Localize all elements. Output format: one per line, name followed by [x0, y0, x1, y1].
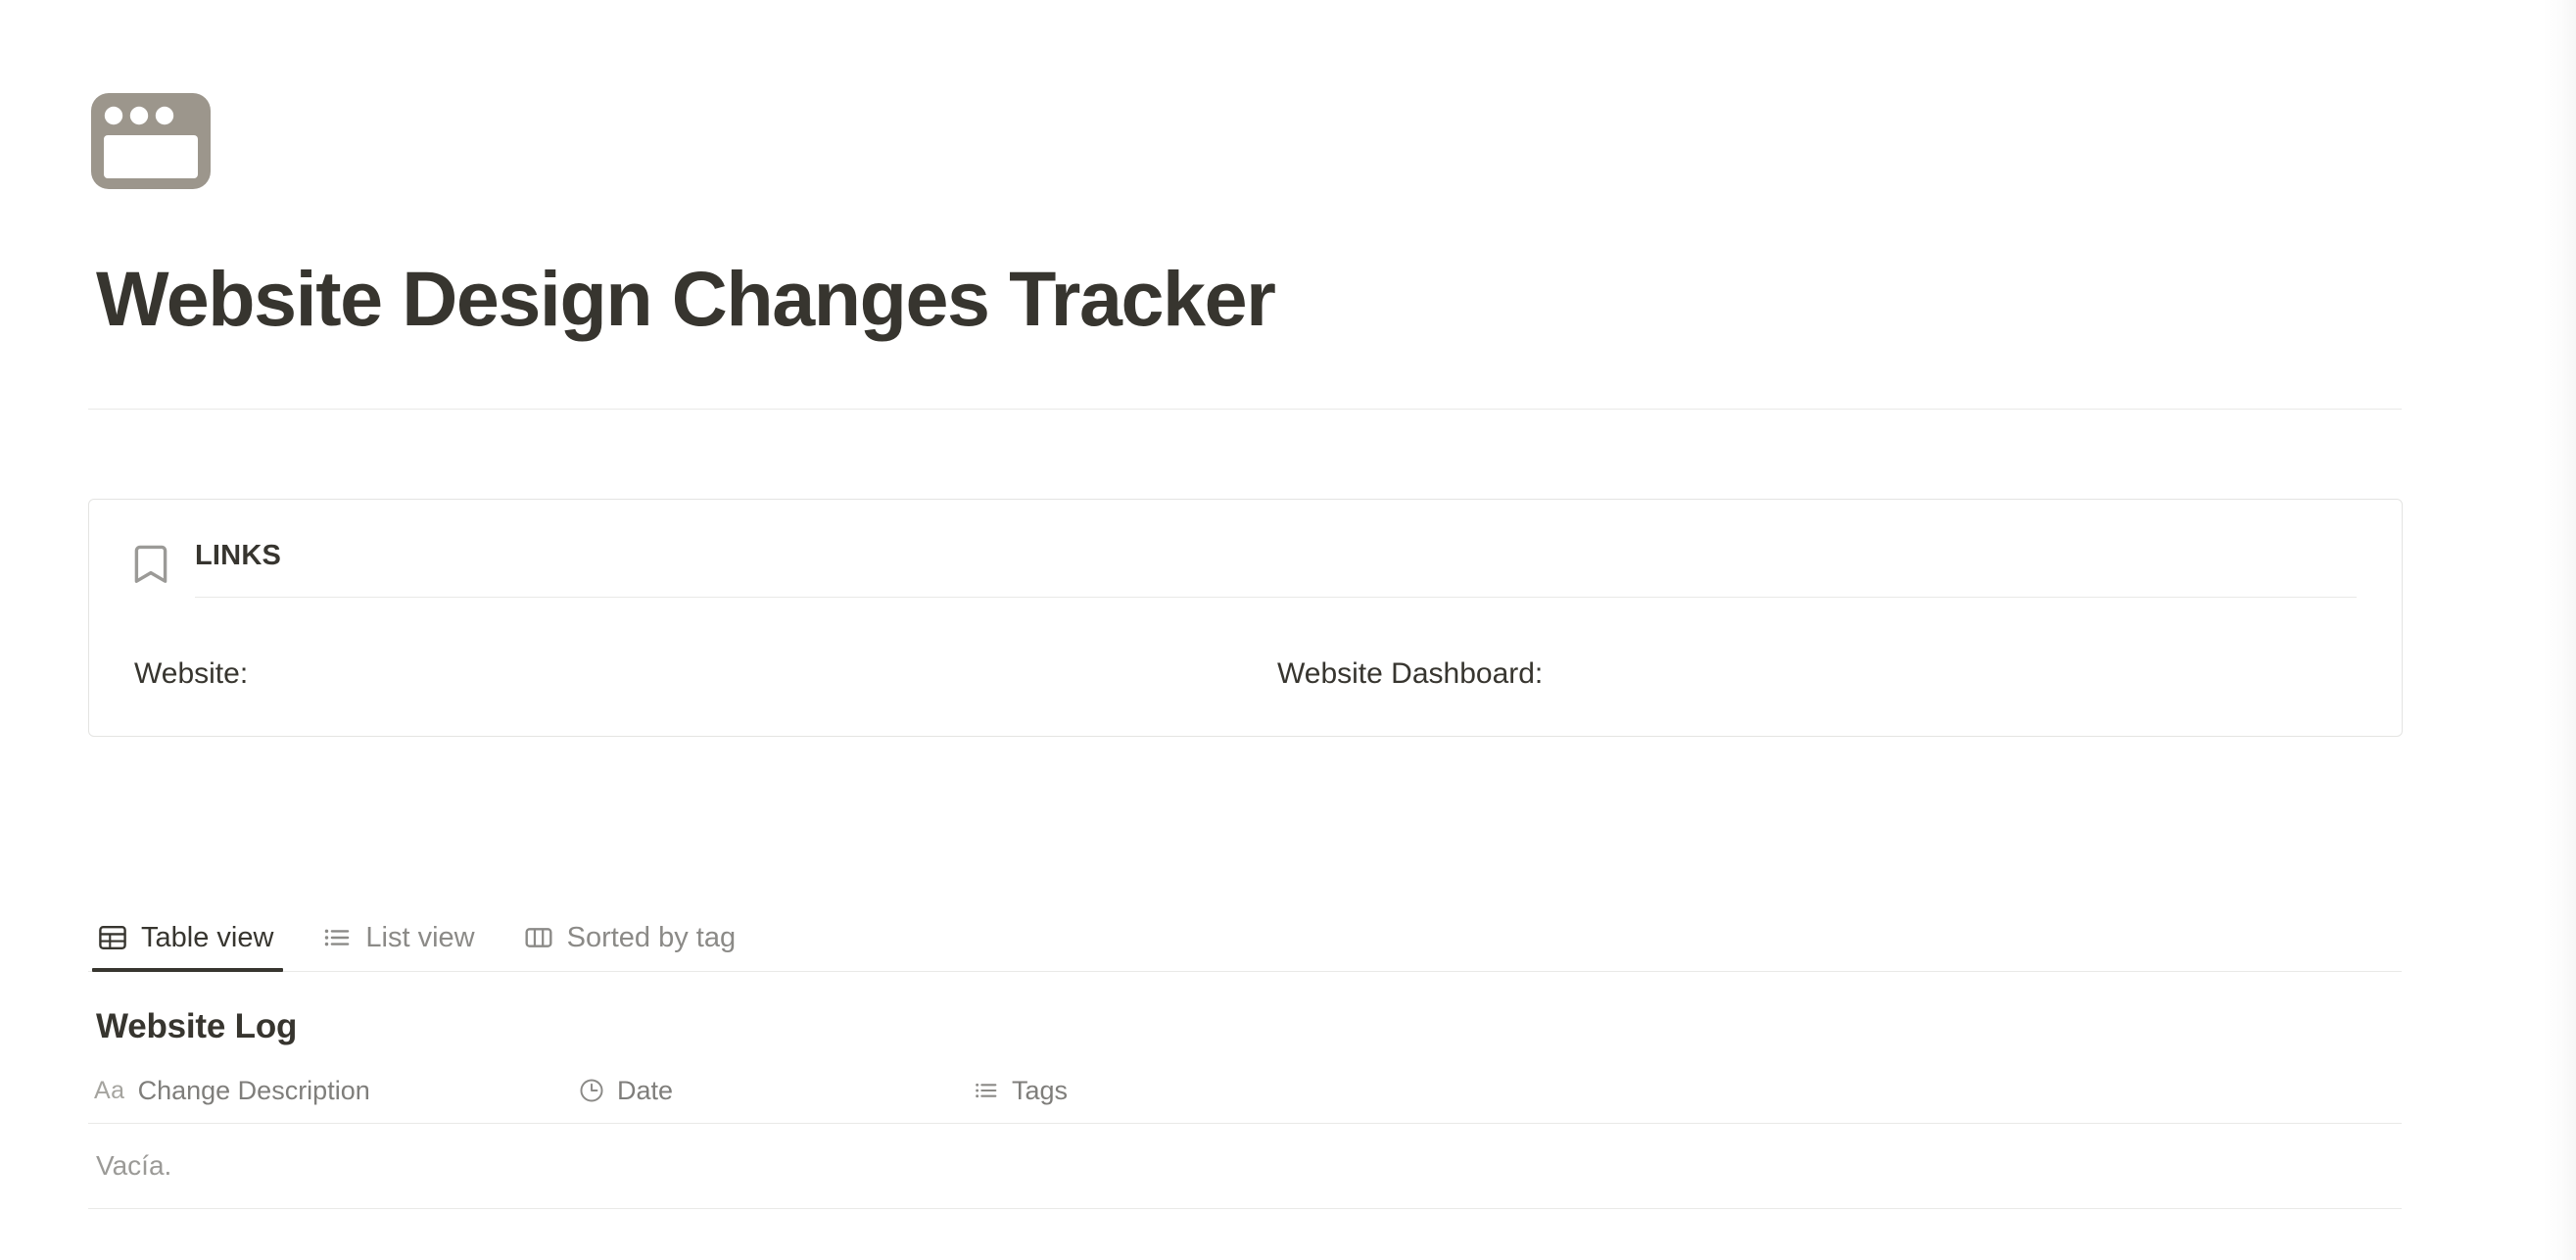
database-column-headers: Aa Change Description Date [88, 1076, 2403, 1123]
bookmark-icon [134, 545, 167, 584]
browser-window-icon[interactable] [88, 90, 214, 192]
tab-table-view[interactable]: Table view [92, 918, 283, 972]
column-label: Date [617, 1076, 673, 1106]
tab-label: Sorted by tag [567, 922, 737, 954]
column-label: Tags [1012, 1076, 1068, 1106]
board-icon [524, 923, 553, 952]
column-header-change-description[interactable]: Aa Change Description [94, 1076, 579, 1106]
column-label: Change Description [138, 1076, 370, 1106]
database-empty-row[interactable]: Vacía. [88, 1124, 2403, 1208]
links-callout: LINKS Website: Website Dashboard: [88, 499, 2403, 737]
title-divider [88, 409, 2402, 410]
page-title[interactable]: Website Design Changes Tracker [96, 259, 2403, 340]
multiselect-list-icon [974, 1078, 999, 1103]
column-header-date[interactable]: Date [579, 1076, 974, 1106]
link-label: Website Dashboard: [1277, 657, 1543, 690]
tab-label: List view [365, 922, 474, 954]
clock-icon [579, 1078, 604, 1103]
callout-body: LINKS [195, 539, 2357, 598]
column-header-tags[interactable]: Tags [974, 1076, 1068, 1106]
callout-title: LINKS [195, 539, 2357, 597]
table-icon [98, 923, 127, 952]
database-views: Table view List view [88, 918, 2403, 972]
tab-label: Table view [141, 922, 273, 954]
text-aa-icon: Aa [94, 1079, 125, 1103]
callout-rule [195, 597, 2357, 598]
tab-sorted-by-tag[interactable]: Sorted by tag [518, 918, 746, 972]
link-field-website-dashboard[interactable]: Website Dashboard: [1277, 654, 1543, 693]
link-label: Website: [134, 657, 248, 690]
callout-header: LINKS [134, 539, 2357, 598]
notion-page: Website Design Changes Tracker LINKS Web… [0, 0, 2542, 1260]
links-row: Website: Website Dashboard: [134, 654, 2357, 693]
database-title[interactable]: Website Log [96, 1007, 2403, 1046]
page-content: Website Design Changes Tracker LINKS Web… [88, 0, 2403, 1209]
list-icon [322, 923, 352, 952]
database-row-divider [88, 1208, 2402, 1209]
link-field-website[interactable]: Website: [134, 654, 1277, 693]
view-tab-strip: Table view List view [88, 918, 2403, 972]
page-right-edge [2541, 0, 2576, 1260]
tab-list-view[interactable]: List view [316, 918, 484, 972]
